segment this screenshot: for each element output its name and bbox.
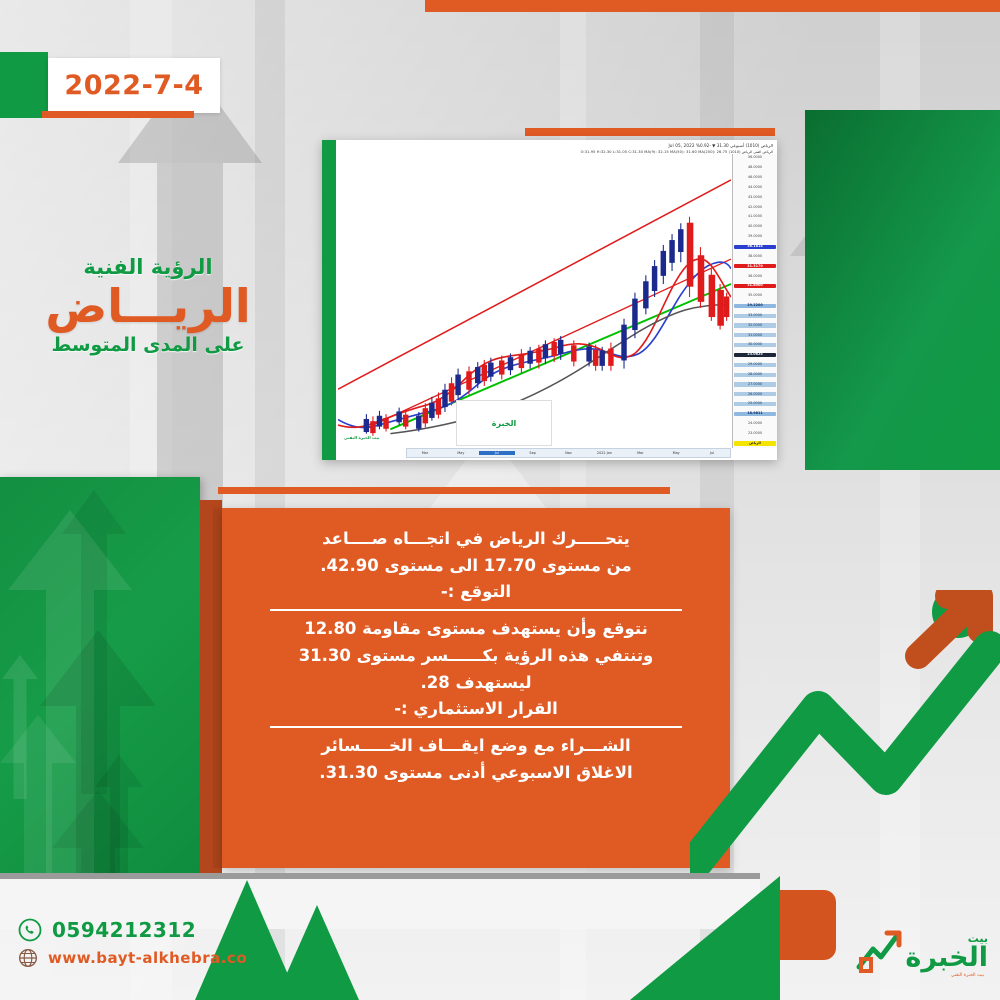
y-tick: 28.0000 (734, 373, 776, 377)
decision-rule (270, 726, 682, 728)
page-title-line2: الريـــاض (18, 280, 278, 333)
y-tick: 41.0000 (734, 215, 776, 219)
decorative-arrow-icon (40, 627, 156, 706)
chart-watermark-title: الخبرة (492, 419, 516, 428)
y-tick: 43.0000 (734, 195, 776, 199)
y-tick: 46.0000 (734, 176, 776, 180)
contact-phone-number: 0594212312 (52, 918, 196, 942)
contact-info: 0594212312 www.bayt-alkhebra.co (18, 918, 247, 974)
chart-x-axis: Mar May Jul Sep Nov 2022 Jan Mar May Jul (406, 448, 731, 458)
forecast-line2: وتنتفي هذه الرؤية بكــــــسر مستوى 31.30 (242, 643, 710, 670)
contact-website-row[interactable]: www.bayt-alkhebra.co (18, 948, 247, 968)
y-tick: 40.0000 (734, 225, 776, 229)
y-tick: 35.0000 (734, 294, 776, 298)
decorative-green-arrows-panel (0, 477, 200, 907)
chart-svg (338, 156, 731, 438)
y-tick: 38.0000 (734, 254, 776, 258)
panel-top-divider (218, 487, 670, 494)
decorative-green-triangle-2 (275, 905, 359, 1000)
analysis-paragraph1-line1: يتحـــــرك الرياض في اتجـــاه صــــاعد (242, 526, 710, 553)
x-tick: Mar (622, 451, 658, 455)
y-price-badge-lightblue-2: 18.9811 (734, 412, 776, 416)
y-tick: 23.0000 (734, 432, 776, 436)
y-tick: 56.0000 (734, 156, 776, 160)
y-price-badge-red: 31.3170 (734, 264, 776, 268)
y-tick: 32.0000 (734, 323, 776, 327)
analysis-panel: يتحـــــرك الرياض في اتجـــاه صــــاعد م… (222, 508, 730, 868)
chart-header: الرياض (1010) أسبوعي 31.30 ▼ -0.92% Jul … (340, 143, 773, 154)
y-price-badge-dark: 23.0625 (734, 353, 776, 357)
x-tick: Mar (407, 451, 443, 455)
chart-plot-area (338, 156, 731, 438)
forecast-line1: نتوقع وأن يستهدف مستوى مقاومة 12.80 (242, 616, 710, 643)
x-tick: Jul (694, 451, 730, 455)
y-tick: 25.0000 (734, 402, 776, 406)
whatsapp-icon (18, 918, 42, 942)
y-tick: 29.0000 (734, 363, 776, 367)
y-tick: 36.0000 (734, 274, 776, 278)
forecast-rule (270, 609, 682, 611)
globe-icon (18, 948, 38, 968)
chart-header-row-2: الرياض الفني الرياض (1010) O:31.95 H:32.… (340, 150, 773, 154)
brand-tagline: بيت الخبرة التقني (951, 973, 984, 978)
decorative-arrow-icon (0, 712, 76, 763)
y-price-badge-blue: 36.1814 (734, 245, 776, 249)
y-tick: 33.0000 (734, 314, 776, 318)
decorative-arrow-icon (2, 652, 38, 679)
date-badge-underline (42, 111, 194, 118)
y-tick: 24.0000 (734, 422, 776, 426)
x-tick: Sep (515, 451, 551, 455)
brand-logo: بيت الخبرة بيت الخبرة التقني (855, 915, 990, 977)
decorative-arrow-icon (95, 752, 143, 787)
analysis-paragraph1-line2: من مستوى 17.70 الى مستوى 42.90. (242, 553, 710, 580)
forecast-heading: التوقع :- (242, 579, 710, 606)
page-title: الرؤية الفنية الريـــاض على المدى المتوس… (18, 255, 278, 358)
chart-card-green-edge (322, 140, 336, 460)
brand-name-main: الخبرة (905, 944, 988, 971)
contact-phone-row[interactable]: 0594212312 (18, 918, 247, 942)
chart-header-row-1: الرياض (1010) أسبوعي 31.30 ▼ -0.92% Jul … (340, 143, 773, 148)
x-tick: Nov (551, 451, 587, 455)
trend-arrow-svg (690, 590, 1000, 920)
decision-heading: القرار الاستثماري :- (242, 696, 710, 723)
decorative-arrow-icon (52, 787, 144, 848)
y-tick: 26.0000 (734, 392, 776, 396)
chart-canvas: الرياض (1010) أسبوعي 31.30 ▼ -0.92% Jul … (336, 140, 777, 460)
top-accent-bar (425, 0, 1000, 12)
decorative-green-panel-top-right (805, 110, 1000, 470)
brand-logo-graphic (855, 925, 905, 973)
date-badge-green-block (0, 52, 48, 118)
y-price-badge-lightblue: 29.2200 (734, 304, 776, 308)
y-tick: 30.0000 (734, 343, 776, 347)
y-price-badge-red-2: 31.8000 (734, 284, 776, 288)
x-tick-selected: Jul (479, 451, 515, 455)
x-tick: 2022 Jan (586, 451, 622, 455)
chart-watermark-subtitle: بيت الخبرة التقني (344, 435, 379, 440)
decorative-arrow-icon (62, 487, 126, 534)
chart-header-line1: الرياض (1010) أسبوعي 31.30 ▼ -0.92% Jul … (668, 143, 773, 148)
chart-accent-bar (525, 128, 775, 136)
decision-line2: الاغلاق الاسبوعي أدنى مستوى 31.30. (242, 760, 710, 787)
forecast-line3: ليستهدف 28. (242, 670, 710, 697)
date-badge: 2022-7-4 (48, 58, 220, 113)
y-symbol-badge: الرياض (734, 441, 776, 445)
y-tick: 31.0000 (734, 333, 776, 337)
x-tick: May (658, 451, 694, 455)
page-title-line1: الرؤية الفنية (18, 255, 278, 280)
chart-y-axis: 56.0000 48.0000 46.0000 44.0000 43.0000 … (732, 154, 777, 448)
contact-website-url: www.bayt-alkhebra.co (48, 949, 247, 967)
decorative-trend-arrow-icon (690, 590, 1000, 920)
chart-card: الرياض (1010) أسبوعي 31.30 ▼ -0.92% Jul … (322, 140, 777, 460)
y-tick: 27.0000 (734, 382, 776, 386)
brand-logo-text: بيت الخبرة (905, 933, 988, 971)
chart-watermark-logo: الخبرة (456, 400, 552, 446)
chart-upper-channel (338, 180, 731, 389)
y-tick: 42.0000 (734, 205, 776, 209)
y-tick: 48.0000 (734, 166, 776, 170)
decision-line1: الشـــراء مع وضع ايقـــاف الخـــــسائر (242, 733, 710, 760)
date-badge-label: 2022-7-4 (64, 70, 203, 101)
y-tick: 39.0000 (734, 235, 776, 239)
brand-arrow-house-icon (855, 925, 905, 973)
y-tick: 44.0000 (734, 186, 776, 190)
page-title-line3: على المدى المتوسط (18, 333, 278, 358)
x-tick: May (443, 451, 479, 455)
